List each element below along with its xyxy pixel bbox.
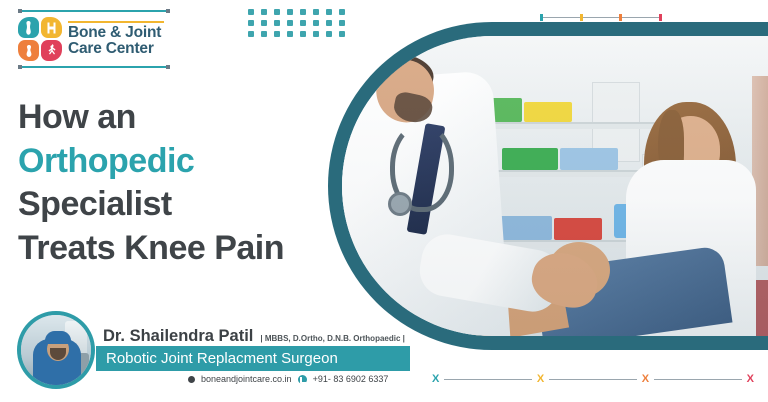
brand-logo[interactable]: Bone & Joint Care Center xyxy=(18,10,170,68)
phone-number[interactable]: +91- 83 6902 6337 xyxy=(313,374,389,384)
hero-photo-frame xyxy=(328,22,768,350)
logo-tiles xyxy=(18,17,62,61)
logo-line-1: Bone & Joint xyxy=(68,25,164,41)
doctor-title: Robotic Joint Replacment Surgeon xyxy=(106,350,338,367)
phone-icon xyxy=(298,375,307,384)
contact-row: boneandjointcare.co.in +91- 83 6902 6337 xyxy=(188,374,388,384)
spine-icon xyxy=(41,40,62,61)
hip-icon xyxy=(18,40,39,61)
hero-photo xyxy=(342,36,768,336)
decorative-ruler-bottom: X X X X xyxy=(432,374,754,385)
decorative-ruler-top xyxy=(540,14,662,21)
doctor-credentials: | MBBS, D.Ortho, D.N.B. Orthopaedic | xyxy=(260,334,404,343)
page-title: How an Orthopedic Specialist Treats Knee… xyxy=(18,96,284,270)
avatar xyxy=(17,311,95,389)
logo-rule-bottom xyxy=(18,66,170,68)
x-mark-orange: X xyxy=(642,374,649,385)
logo-accent-line xyxy=(68,21,164,23)
clinic-scene xyxy=(342,36,768,336)
doctor-title-bar: Robotic Joint Replacment Surgeon xyxy=(96,346,410,371)
headline-line-2: Orthopedic xyxy=(18,140,284,184)
headline-line-1: How an xyxy=(18,96,284,140)
logo-line-2: Care Center xyxy=(68,41,164,57)
x-mark-teal: X xyxy=(432,374,439,385)
doctor-name-row: Dr. Shailendra Patil | MBBS, D.Ortho, D.… xyxy=(103,327,405,346)
headline-line-4: Treats Knee Pain xyxy=(18,227,284,271)
x-mark-yellow: X xyxy=(537,374,544,385)
decorative-dot-grid xyxy=(248,9,352,42)
joint-icon xyxy=(41,17,62,38)
doctor-name: Dr. Shailendra Patil xyxy=(103,327,253,346)
globe-icon xyxy=(188,376,195,383)
logo-main: Bone & Joint Care Center xyxy=(18,17,170,61)
logo-rule-top xyxy=(18,10,170,12)
website-link[interactable]: boneandjointcare.co.in xyxy=(201,374,292,384)
logo-wordmark: Bone & Joint Care Center xyxy=(68,21,164,57)
headline-line-3: Specialist xyxy=(18,183,284,227)
blog-banner: Bone & Joint Care Center How an Orthoped… xyxy=(0,0,768,402)
x-mark-red: X xyxy=(747,374,754,385)
ruler-tick-red xyxy=(659,14,662,21)
bone-icon xyxy=(18,17,39,38)
